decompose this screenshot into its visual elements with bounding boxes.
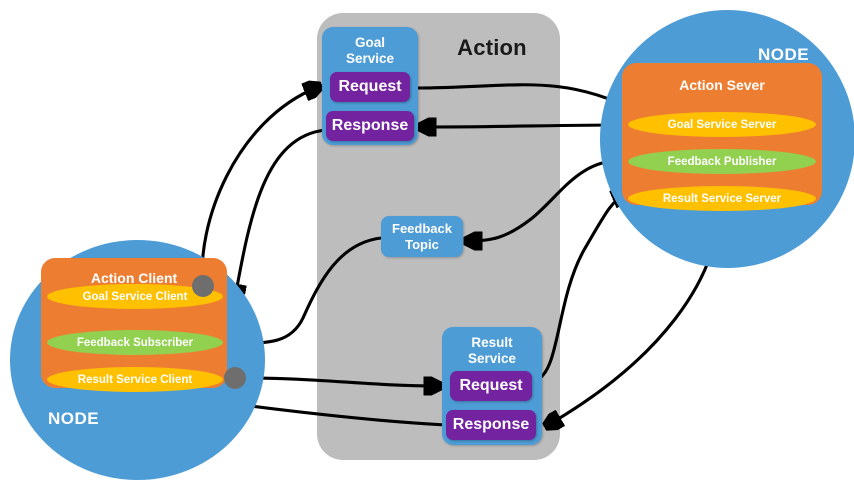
action-server-title: Action Sever	[622, 77, 822, 93]
feedback-topic-box[interactable]: Feedback Topic	[381, 216, 463, 257]
action-panel-title: Action	[432, 35, 552, 61]
feedback-topic-label-line2: Topic	[405, 237, 439, 252]
result-service-title-line1: Result	[471, 335, 512, 350]
goal-service-title: Goal Service	[322, 35, 418, 67]
result-service-client-connector-dot	[224, 367, 246, 389]
feedback-topic-label: Feedback Topic	[392, 221, 452, 253]
result-service-title: Result Service	[442, 335, 542, 367]
feedback-publisher-ellipse[interactable]: Feedback Publisher	[628, 149, 816, 174]
goal-service-client-connector-dot	[192, 275, 214, 297]
result-service-client-ellipse[interactable]: Result Service Client	[47, 367, 223, 392]
feedback-subscriber-ellipse[interactable]: Feedback Subscriber	[47, 330, 223, 355]
diagram-canvas: Action Goal Service	[0, 0, 854, 480]
server-node-label: NODE	[758, 45, 809, 65]
goal-service-server-ellipse[interactable]: Goal Service Server	[628, 112, 816, 137]
result-service-request[interactable]: Request	[450, 371, 532, 401]
result-service-server-ellipse[interactable]: Result Service Server	[628, 186, 816, 211]
goal-service-response[interactable]: Response	[326, 111, 414, 141]
goal-service-title-line2: Service	[346, 51, 394, 66]
arrow-goal-response-to-client	[235, 130, 326, 298]
result-service-title-line2: Service	[468, 351, 516, 366]
goal-service-title-line1: Goal	[355, 35, 385, 50]
arrow-client-to-goal-request	[202, 87, 318, 286]
goal-service-request[interactable]: Request	[330, 72, 410, 102]
feedback-topic-label-line1: Feedback	[392, 221, 452, 236]
result-service-response[interactable]: Response	[446, 410, 536, 440]
client-node-label: NODE	[48, 409, 99, 429]
